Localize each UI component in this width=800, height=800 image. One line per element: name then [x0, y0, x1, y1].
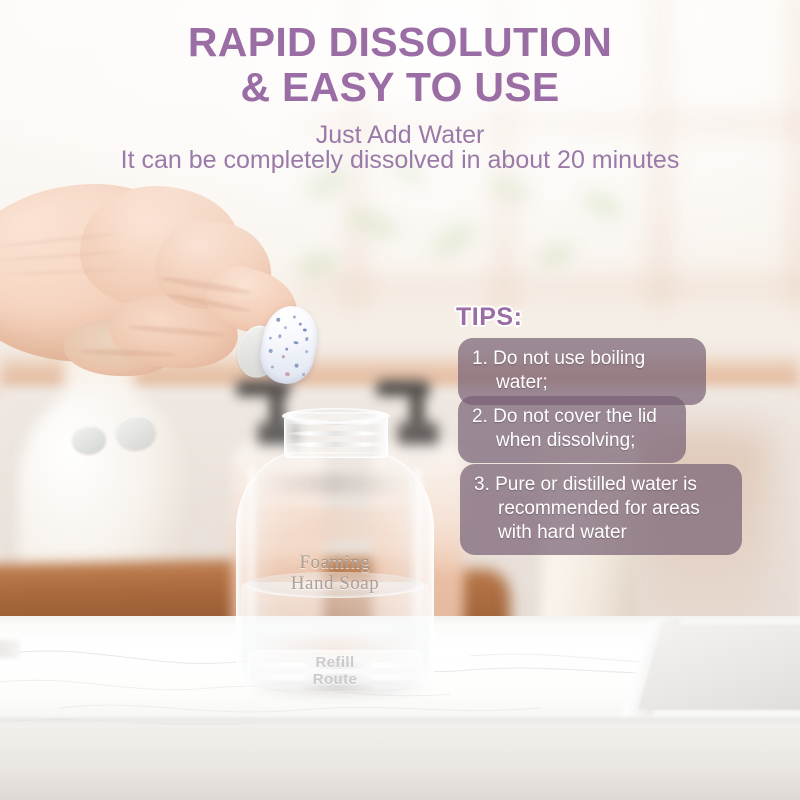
page-title: RAPID DISSOLUTION & EASY TO USE [0, 20, 800, 110]
brand-name-line-2: Route [236, 671, 434, 688]
counter-front-edge [0, 726, 800, 800]
tip-item-3: 3. Pure or distilled water is recommende… [460, 464, 742, 555]
jar-rim [282, 408, 390, 424]
headline-line-1: RAPID DISSOLUTION [0, 20, 800, 65]
sink-left-lip [0, 640, 20, 658]
brand-name-line-1: Refill [236, 654, 434, 671]
tip-item-3-text: 3. Pure or distilled water is recommende… [474, 473, 728, 545]
tips-heading: TIPS: [456, 303, 522, 332]
bottle-label-line-2: Hand Soap [236, 573, 434, 595]
glass-soap-jar: Foaming Hand Soap Refill Route [236, 412, 434, 690]
sink-basin [638, 624, 800, 710]
tip-item-1: 1. Do not use boiling water; [458, 338, 706, 405]
tip-item-1-text: 1. Do not use boiling water; [472, 347, 692, 395]
tip-item-2-text: 2. Do not cover the lid when dissolving; [472, 405, 672, 453]
jar-reflection-dark [258, 474, 410, 494]
jar-reflection-warm-upper [252, 508, 418, 542]
bottle-label-line-1: Foaming [236, 552, 434, 574]
headline-line-2: & EASY TO USE [0, 65, 800, 110]
hand-holding-tablet [0, 178, 340, 408]
subheadline-line-2: It can be completely dissolved in about … [0, 146, 800, 175]
tip-item-2: 2. Do not cover the lid when dissolving; [458, 396, 686, 463]
product-marketing-image: Foaming Hand Soap Refill Route [0, 0, 800, 800]
